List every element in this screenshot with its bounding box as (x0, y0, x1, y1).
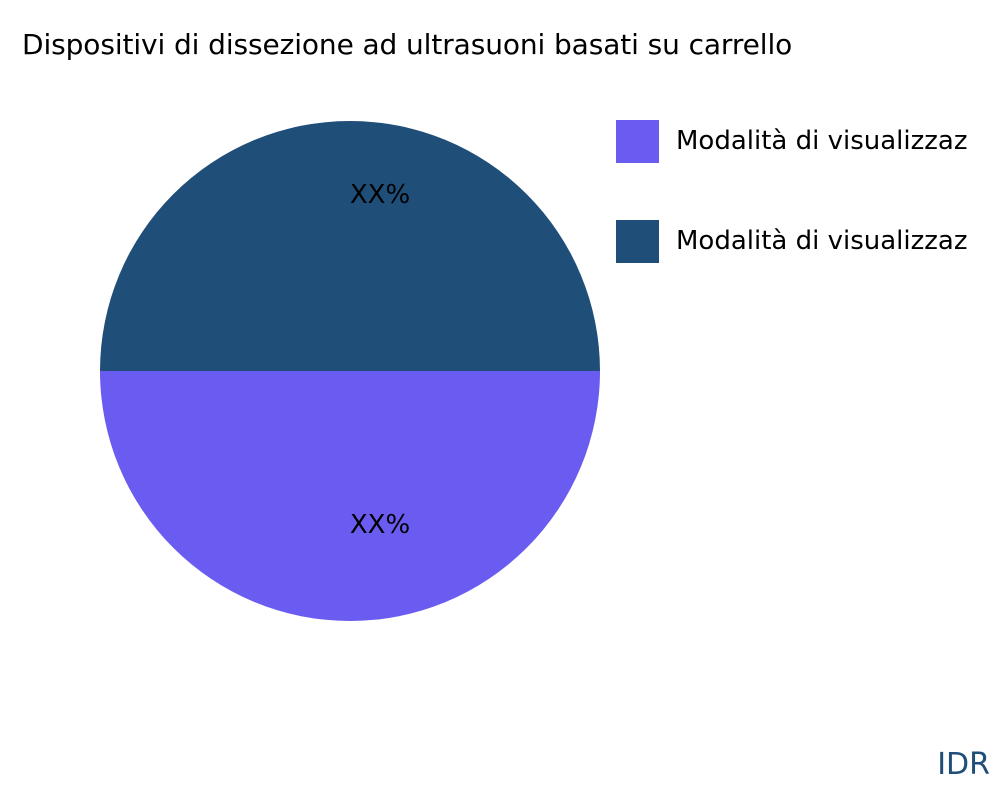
page-title: Dispositivi di dissezione ad ultrasuoni … (22, 26, 792, 64)
pie-slice-lower[interactable] (100, 371, 600, 621)
legend-item-1[interactable]: Modalità di visualizzaz (616, 220, 1000, 320)
legend-item-label: Modalità di visualizzaz (676, 223, 968, 260)
chart-canvas: Dispositivi di dissezione ad ultrasuoni … (0, 0, 1000, 800)
pie-slice-upper[interactable] (100, 121, 600, 371)
pie-slice-label-upper: XX% (350, 180, 410, 210)
legend-item-0[interactable]: Modalità di visualizzaz (616, 120, 1000, 220)
watermark: IDR (937, 747, 990, 782)
chart-legend: Modalità di visualizzaz Modalità di visu… (616, 120, 1000, 320)
legend-item-label: Modalità di visualizzaz (676, 123, 968, 160)
pie-slice-label-lower: XX% (350, 510, 410, 540)
pie-chart: XX% XX% (100, 121, 600, 621)
legend-color-swatch-icon (616, 120, 659, 163)
legend-color-swatch-icon (616, 220, 659, 263)
